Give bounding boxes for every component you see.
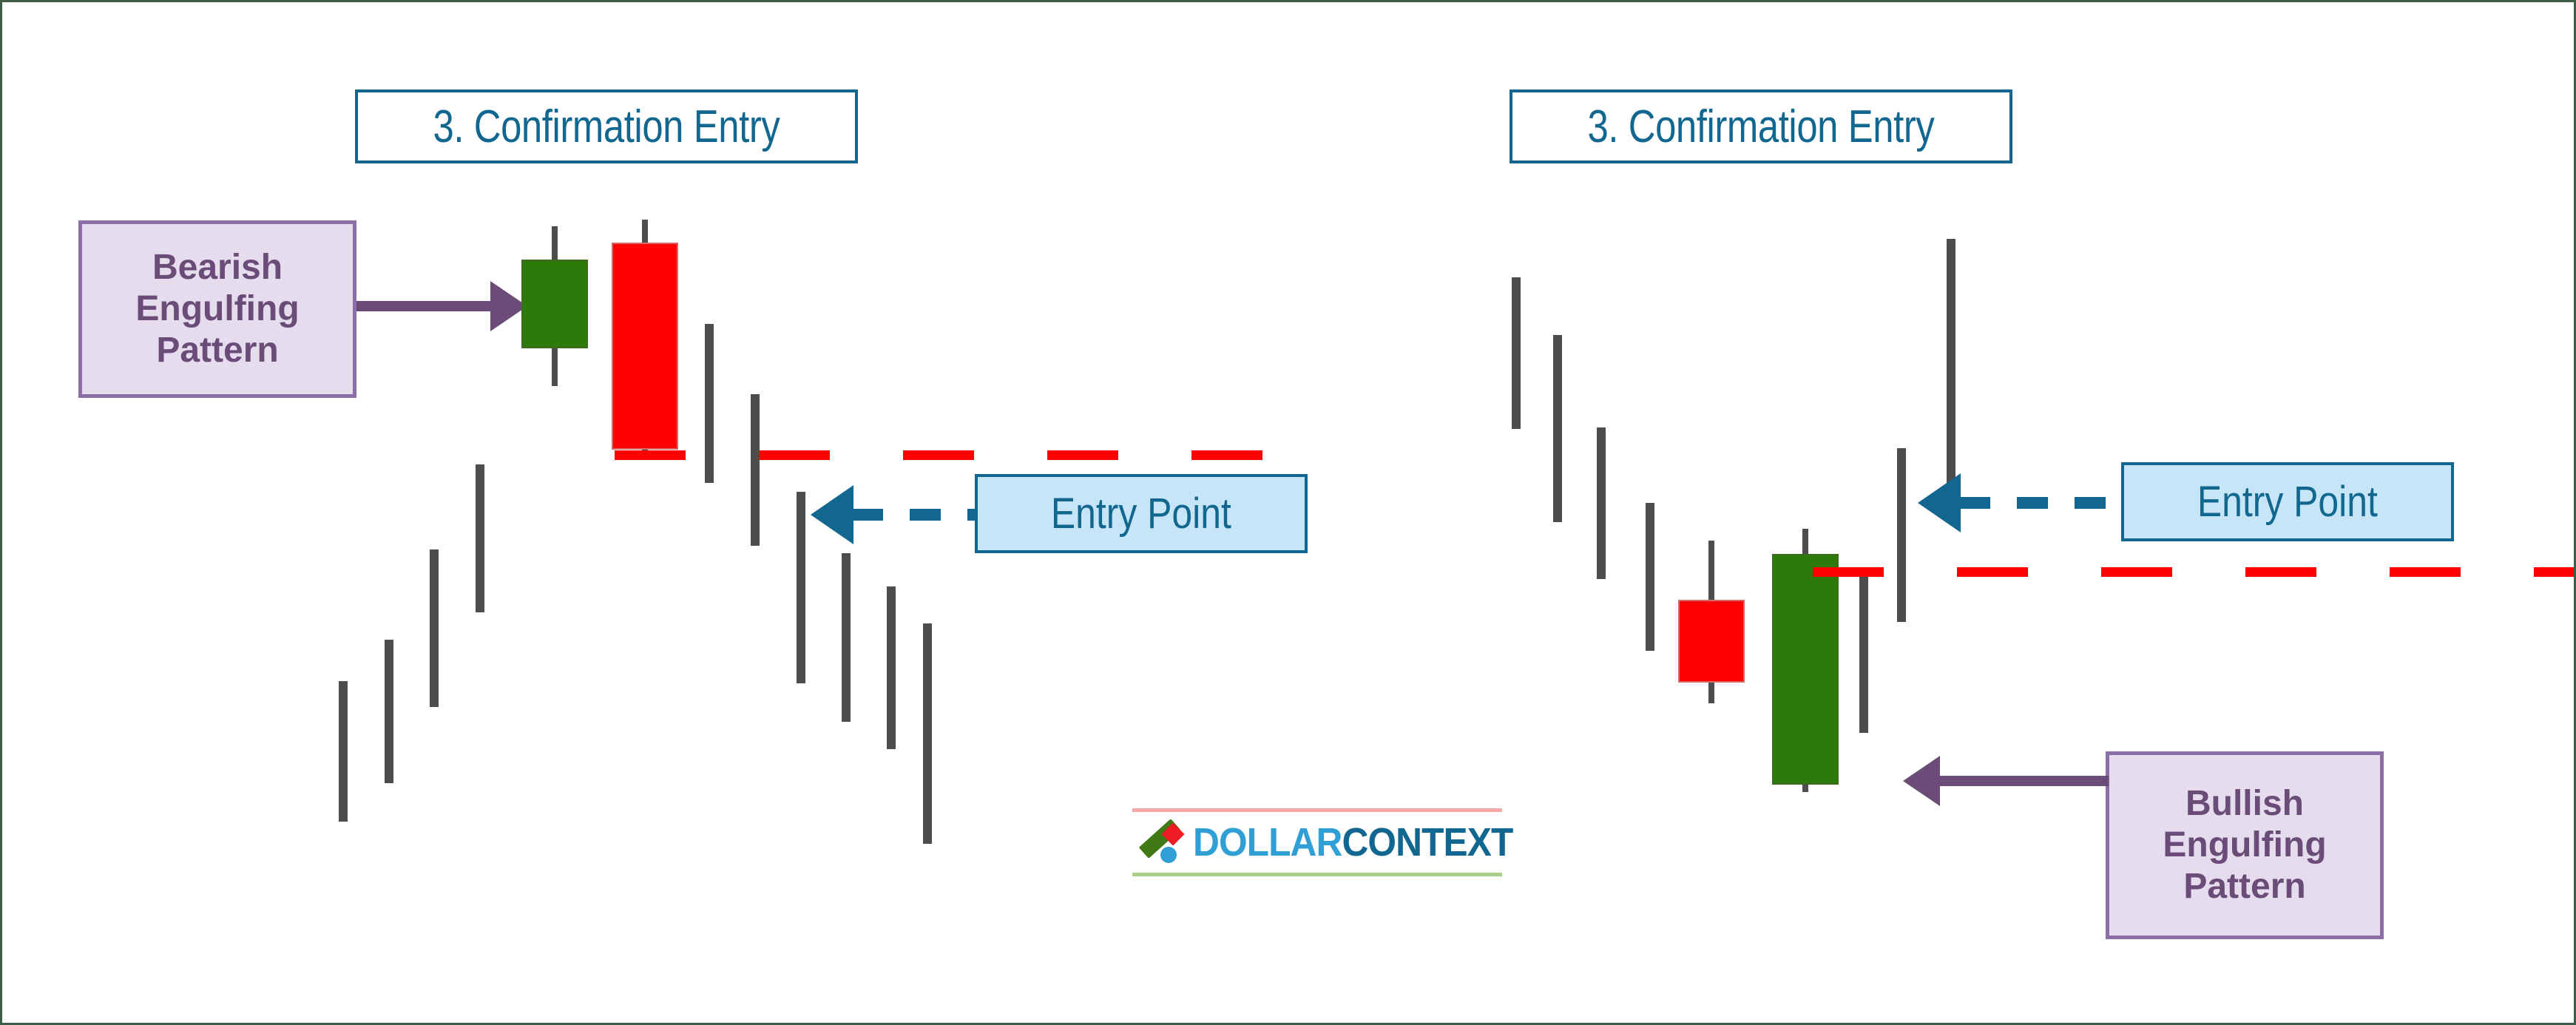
logo-wordmark: DOLLARCONTEXT <box>1193 822 1512 862</box>
right-entry-point-box: Entry Point <box>2121 462 2454 541</box>
candle-hl-bar <box>1646 503 1654 651</box>
right-title-box: 3. Confirmation Entry <box>1510 89 2012 163</box>
candle-body-bearish <box>612 243 678 450</box>
diagram-canvas: 3. Confirmation Entry Bearish Engulfing … <box>0 0 2576 1025</box>
candle-body-bullish <box>521 260 588 348</box>
left-entry-point-box: Entry Point <box>975 474 1308 553</box>
left-title-text: 3. Confirmation Entry <box>433 101 780 153</box>
left-title-box: 3. Confirmation Entry <box>355 89 858 163</box>
candle-hl-bar <box>1512 277 1521 429</box>
bearish-callout-arrow-shaft <box>356 301 492 311</box>
left-entry-level-line <box>615 450 1310 460</box>
right-entry-arrow-shaft <box>1959 497 2122 509</box>
logo-blue-dot-icon <box>1160 847 1177 863</box>
callout-line-3: Pattern <box>2183 866 2305 907</box>
left-entry-arrow-head <box>811 485 853 544</box>
candle-hl-bar <box>1553 335 1562 522</box>
candle-hl-bar <box>1897 448 1906 622</box>
left-entry-point-label: Entry Point <box>1051 489 1231 538</box>
candle-hl-bar <box>1597 427 1606 579</box>
dollarcontext-logo: DOLLARCONTEXT <box>1132 808 1502 876</box>
bullish-callout-arrow-shaft <box>1940 776 2109 786</box>
right-entry-level-line <box>1813 567 2576 577</box>
callout-line-3: Pattern <box>156 330 278 371</box>
logo-bottom-rule <box>1132 873 1502 876</box>
right-title-text: 3. Confirmation Entry <box>1588 101 1935 153</box>
candle-hl-bar <box>385 640 393 783</box>
left-entry-arrow-shaft <box>852 509 977 521</box>
candle-hl-bar <box>339 681 348 822</box>
callout-line-2: Engulfing <box>135 288 299 330</box>
logo-main-row: DOLLARCONTEXT <box>1132 812 1502 873</box>
right-entry-arrow-head <box>1918 473 1961 532</box>
candle-hl-bar <box>797 492 805 683</box>
dollarcontext-mark-icon <box>1137 819 1183 865</box>
candle-hl-bar <box>1947 239 1955 490</box>
candle-hl-bar <box>842 553 851 722</box>
candle-body-bullish <box>1772 554 1839 785</box>
candle-hl-bar <box>430 549 439 707</box>
callout-line-2: Engulfing <box>2163 825 2326 866</box>
logo-word-context: CONTEXT <box>1342 820 1512 865</box>
bullish-callout-arrow-head <box>1903 756 1940 806</box>
bullish-engulfing-callout: Bullish Engulfing Pattern <box>2106 751 2384 939</box>
logo-word-dollar: DOLLAR <box>1193 820 1342 865</box>
callout-line-1: Bearish <box>152 247 283 288</box>
candle-hl-bar <box>476 464 484 612</box>
right-entry-point-label: Entry Point <box>2197 477 2378 527</box>
candle-hl-bar <box>751 394 760 546</box>
bearish-engulfing-callout: Bearish Engulfing Pattern <box>78 220 356 398</box>
candle-body-bearish <box>1678 600 1745 683</box>
callout-line-1: Bullish <box>2185 783 2304 825</box>
candle-hl-bar <box>887 586 896 749</box>
candle-hl-bar <box>923 623 932 844</box>
candle-hl-bar <box>1859 567 1868 733</box>
